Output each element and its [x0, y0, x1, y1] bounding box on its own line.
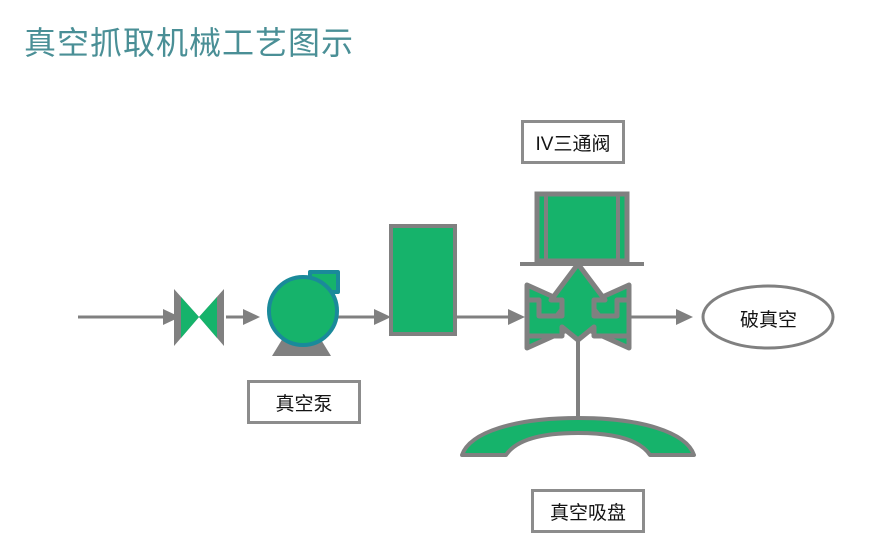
gate-valve-symbol[interactable] — [174, 289, 224, 346]
break-vacuum-ellipse[interactable] — [703, 286, 833, 348]
three-way-valve-actuator — [537, 194, 627, 261]
flow-line-inlet-to-valve — [78, 309, 180, 325]
vacuum-tank-symbol[interactable] — [391, 226, 455, 334]
three-way-valve-symbol[interactable] — [520, 194, 644, 348]
label-vacuum-pump: 真空泵 — [247, 380, 361, 424]
flow-line-threeway-to-breakvacuum — [629, 309, 693, 325]
label-vacuum-suction-cup: 真空吸盘 — [531, 489, 645, 533]
label-three-way-valve: IV三通阀 — [521, 120, 625, 164]
flow-line-tank-to-threeway — [456, 309, 525, 325]
flow-line-pump-to-tank — [338, 309, 391, 325]
diagram-canvas-root: 真空抓取机械工艺图示 — [0, 0, 873, 556]
flow-line-valve-to-pump — [226, 309, 260, 325]
vacuum-pump-symbol[interactable] — [269, 272, 338, 356]
vacuum-suction-cup-symbol[interactable] — [462, 418, 694, 455]
process-diagram-svg — [0, 0, 873, 556]
